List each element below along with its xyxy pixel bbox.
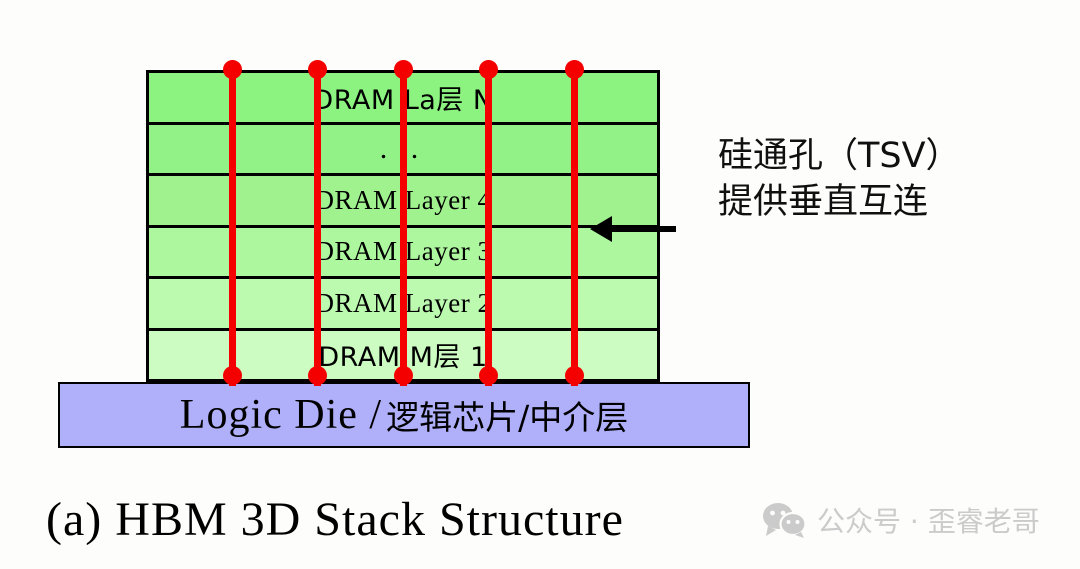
watermark: 公众号 · 歪睿老哥 xyxy=(762,500,1040,540)
tsv-bottom-dot xyxy=(565,366,584,385)
tsv-line xyxy=(485,70,492,386)
tsv-line xyxy=(400,70,407,386)
figure-caption: (a) HBM 3D Stack Structure xyxy=(46,492,624,547)
tsv-line xyxy=(571,70,578,386)
tsv-top-dot xyxy=(565,60,584,79)
tsv-annotation: 硅通孔（TSV） 提供垂直互连 xyxy=(718,133,1068,225)
tsv-line xyxy=(314,70,321,386)
tsv-annotation-line1: 硅通孔（TSV） xyxy=(718,133,1068,179)
tsv-top-dot xyxy=(479,60,498,79)
tsv-top-dot xyxy=(308,60,327,79)
logic-die-label-en: Logic Die / xyxy=(180,391,382,439)
watermark-text: 公众号 · 歪睿老哥 xyxy=(817,500,1040,540)
tsv-line xyxy=(229,70,236,386)
wechat-icon xyxy=(762,502,808,538)
tsv-bottom-dot xyxy=(308,366,327,385)
logic-die-label-cn: 逻辑芯片/中介层 xyxy=(386,391,628,439)
tsv-annotation-line2: 提供垂直互连 xyxy=(718,179,1068,225)
figure-canvas: DRAM La层 N . . DRAM Layer 4 DRAM Layer 3… xyxy=(0,0,1080,569)
tsv-top-dot xyxy=(394,60,413,79)
tsv-top-dot xyxy=(223,60,242,79)
tsv-bottom-dot xyxy=(394,366,413,385)
logic-die-bar: Logic Die / 逻辑芯片/中介层 xyxy=(58,382,750,448)
tsv-callout-arrow-head xyxy=(590,216,612,242)
tsv-bottom-dot xyxy=(223,366,242,385)
tsv-bottom-dot xyxy=(479,366,498,385)
